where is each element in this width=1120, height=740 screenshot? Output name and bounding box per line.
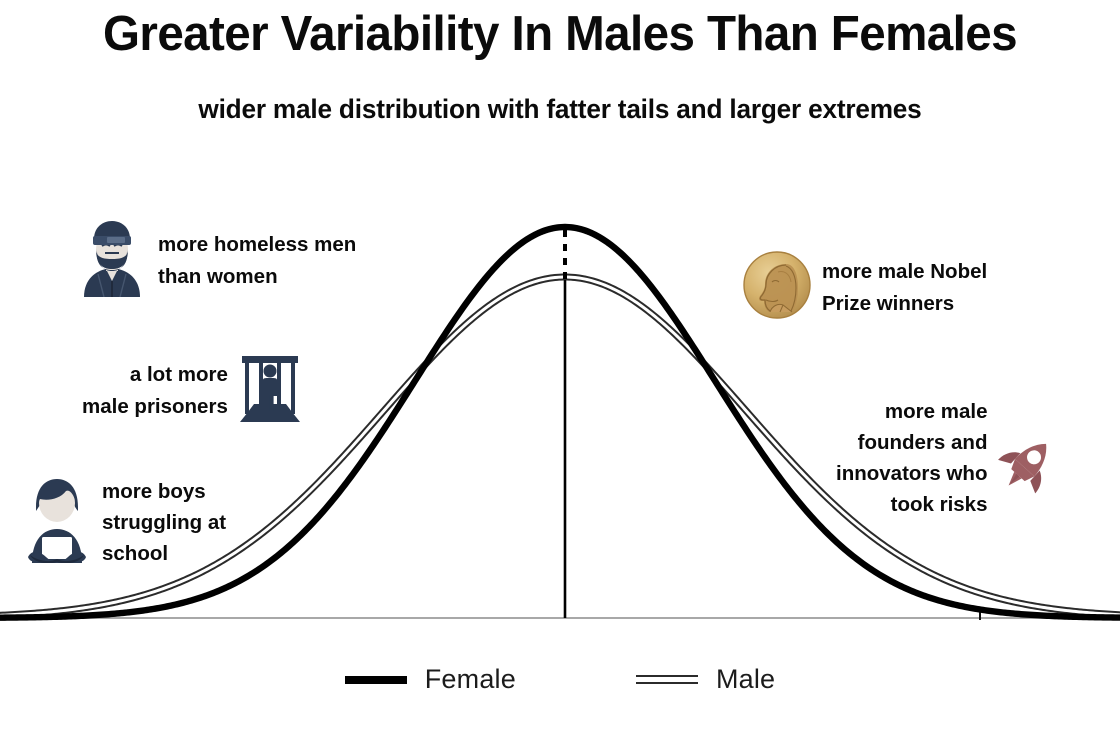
annotation-founders-line4: took risks bbox=[836, 489, 987, 520]
annotation-school: more boys struggling at school bbox=[22, 476, 226, 569]
annotation-prisoners: a lot more male prisoners bbox=[82, 352, 302, 429]
annotation-school-line3: school bbox=[102, 538, 226, 569]
annotation-homeless-line2: than women bbox=[158, 261, 356, 292]
page-title: Greater Variability In Males Than Female… bbox=[17, 8, 1103, 61]
chart-legend: Female Male bbox=[0, 664, 1120, 695]
annotation-school-line1: more boys bbox=[102, 476, 226, 507]
annotation-founders: more male founders and innovators who to… bbox=[836, 396, 1059, 521]
annotation-nobel-line2: Prize winners bbox=[822, 288, 987, 319]
annotation-prisoners-line1: a lot more bbox=[82, 359, 228, 390]
legend-label-female: Female bbox=[425, 664, 516, 695]
annotation-homeless: more homeless men than women bbox=[76, 219, 356, 302]
boy-studying-icon bbox=[22, 477, 92, 568]
annotation-founders-line2: founders and bbox=[836, 427, 987, 458]
rocket-icon bbox=[997, 433, 1059, 500]
homeless-man-icon bbox=[76, 219, 148, 302]
annotation-nobel: more male Nobel Prize winners bbox=[742, 250, 987, 325]
legend-item-male[interactable]: Male bbox=[636, 664, 775, 695]
legend-swatch-female bbox=[345, 676, 407, 684]
page-subtitle: wider male distribution with fatter tail… bbox=[17, 94, 1103, 125]
annotation-founders-line3: innovators who bbox=[836, 458, 987, 489]
annotation-founders-text: more male founders and innovators who to… bbox=[836, 396, 987, 521]
annotation-nobel-text: more male Nobel Prize winners bbox=[822, 256, 987, 318]
annotation-school-text: more boys struggling at school bbox=[102, 476, 226, 569]
annotation-prisoners-line2: male prisoners bbox=[82, 391, 228, 422]
nobel-medal-icon bbox=[742, 250, 812, 325]
prisoner-in-cell-icon bbox=[238, 352, 302, 429]
legend-label-male: Male bbox=[716, 664, 775, 695]
legend-swatch-male bbox=[636, 675, 698, 684]
legend-item-female[interactable]: Female bbox=[345, 664, 516, 695]
annotation-prisoners-text: a lot more male prisoners bbox=[82, 359, 228, 421]
infographic-page: Greater Variability In Males Than Female… bbox=[0, 0, 1120, 740]
annotation-nobel-line1: more male Nobel bbox=[822, 256, 987, 287]
annotation-homeless-line1: more homeless men bbox=[158, 229, 356, 260]
annotation-school-line2: struggling at bbox=[102, 507, 226, 538]
annotation-founders-line1: more male bbox=[836, 396, 987, 427]
annotation-homeless-text: more homeless men than women bbox=[158, 229, 356, 291]
